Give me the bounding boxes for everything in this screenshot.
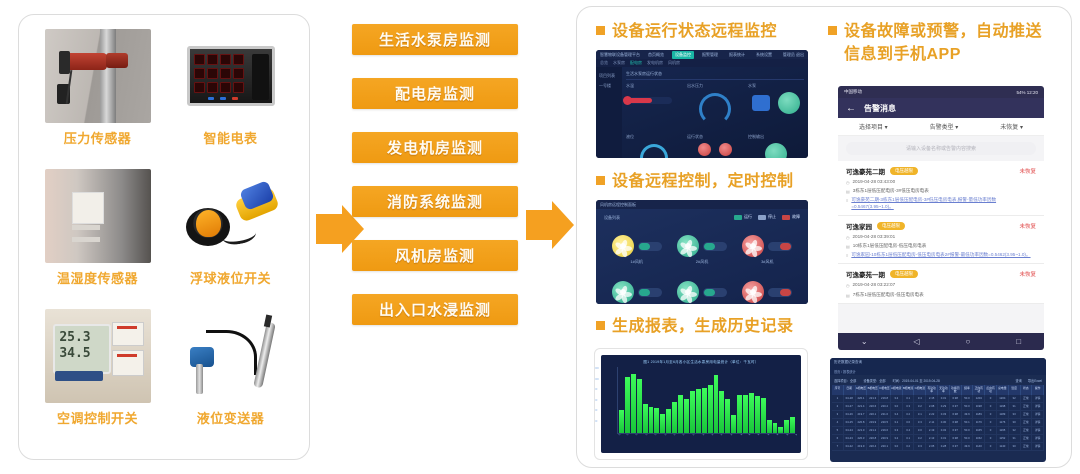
chart-y-tick: 600 <box>594 399 599 402</box>
table-cell: 3.1 <box>914 411 926 418</box>
table-cell: 0.98 <box>950 435 962 442</box>
dashboard-subtab-4[interactable]: 风机房 <box>668 60 680 66</box>
device-label: 液位变送器 <box>197 408 265 427</box>
table-cell: 3.2 <box>914 403 926 410</box>
history-table-screenshot: 历史数据记录查询 首页 / 报表统计 选择项目：全部 设备类型：全部 时间：20… <box>830 358 1046 462</box>
table-cell: 2.22 <box>926 411 938 418</box>
table-filter-bar: 选择项目：全部 设备类型：全部 时间：2019-04-01 至 2019-04-… <box>830 375 1046 385</box>
table-cell: 221.4 <box>856 403 868 410</box>
chart-y-tick: 400 <box>594 409 599 412</box>
dashboard-section-header: 生活水泵房运行状态 <box>626 71 804 80</box>
dashboard-tab-0[interactable]: 首页概览 <box>645 51 667 59</box>
table-cell: 正常 <box>1021 395 1033 402</box>
phone-alarm-screenshot: 中国移动 54% 12:20 ← 告警消息 选择项目 ▾ 告警类型 ▾ 未恢复 … <box>838 86 1044 350</box>
gauge-icon <box>699 93 731 125</box>
info-icon: ≡ <box>846 198 848 203</box>
phone-filter-status[interactable]: 未恢复 ▾ <box>1000 122 1023 131</box>
widget-label: 出水压力 <box>687 83 743 89</box>
alarm-state: 未恢复 <box>1019 222 1036 230</box>
table-cell: 详情 <box>1032 411 1044 418</box>
table-cell: 30 <box>1009 419 1021 426</box>
table-cell: 3.3 <box>914 443 926 450</box>
table-cell: 2.19 <box>926 427 938 434</box>
table-cell: 50.0 <box>962 435 974 442</box>
legend-label: 故障 <box>792 214 800 220</box>
table-cell: 0.98 <box>950 411 962 418</box>
table-cell: 3.4 <box>891 411 903 418</box>
alarm-device: 3栋东1层低压配电房-3#低压电房电表 <box>853 188 929 194</box>
chart-y-tick: 800 <box>594 388 599 391</box>
dashboard-body: 项目列表 一号楼 生活水泵房运行状态 水温 出水压力 水泵 <box>596 67 808 158</box>
dashboard-widget-pump: 水泵 <box>748 83 804 129</box>
ac-control-switch-photo: 25.334.5 <box>45 309 151 403</box>
alarm-detail[interactable]: 可逸豪苑二期-3栋东1层低压配电房-3#低压电房电表,报警-量低功率因数=0.5… <box>851 197 1036 209</box>
table-cell: 0 <box>985 395 997 402</box>
control-topbar: 风机房远程控制面板 <box>596 200 808 209</box>
table-cell: 220.1 <box>856 395 868 402</box>
table-column-header: B相电压 <box>867 385 879 395</box>
alarm-time: 2019-04-28 03:39:01 <box>853 234 896 240</box>
table-cell: 0 <box>985 443 997 450</box>
table-cell: 3.0 <box>891 443 903 450</box>
widget-label: 运行状态 <box>687 134 743 140</box>
fan-icon <box>612 281 634 303</box>
table-cell: 1198 <box>973 403 985 410</box>
device-cell-pressure-sensor: 压力传感器 <box>31 29 164 169</box>
table-cell: 6 <box>832 435 844 442</box>
table-cell: 3.1 <box>903 395 915 402</box>
legend-label: 运行 <box>744 214 752 220</box>
chart-bar <box>719 391 724 433</box>
table-row[interactable]: 104-28220.1221.3219.83.23.13.42.150.310.… <box>832 395 1044 403</box>
phone-filter-type[interactable]: 告警类型 ▾ <box>930 122 959 131</box>
legend-run: 运行 <box>734 214 752 220</box>
chart-bar <box>660 414 665 433</box>
table-cell: 详情 <box>1032 395 1044 402</box>
alarm-card[interactable]: 可逸豪苑二期 电压越限 未恢复 ◷2019-04-28 03:43:00 ▤3栋… <box>838 161 1044 216</box>
fan-icon <box>612 235 634 257</box>
fan-toggle-switch[interactable] <box>768 242 792 251</box>
fan-cell-6: 6#风机 <box>742 281 792 304</box>
output-status-icon <box>765 143 787 158</box>
temp-humidity-sensor-photo <box>45 169 151 263</box>
table-cell: 0 <box>985 427 997 434</box>
table-filter-date[interactable]: 时间：2019-04-01 至 2019-04-28 <box>893 378 940 383</box>
table-cell: 3.2 <box>891 435 903 442</box>
feature-title-text: 设备远程控制，定时控制 <box>612 170 794 193</box>
dashboard-tab-2[interactable]: 报警管理 <box>699 51 721 59</box>
chart-bars <box>619 367 795 433</box>
table-cell: 详情 <box>1032 443 1044 450</box>
dashboard-subtab-2[interactable]: 配电房 <box>630 60 642 66</box>
table-cell: 1189 <box>997 411 1009 418</box>
table-cell: 详情 <box>1032 419 1044 426</box>
table-row[interactable]: 304-26219.7220.1221.03.43.23.12.220.330.… <box>832 411 1044 419</box>
table-cell: 220.8 <box>867 435 879 442</box>
widget-label: 水泵 <box>748 83 804 89</box>
fan-toggle-switch[interactable] <box>768 288 792 297</box>
chart-bar <box>708 385 713 433</box>
alarm-badge: 电压越限 <box>890 167 918 175</box>
alarm-card[interactable]: 可逸豪苑一期 电压越限 未恢复 ◷2019-04-28 03:22:07 ▤7栋… <box>838 264 1044 303</box>
float-level-switch-photo <box>178 169 284 263</box>
table-cell: 04-23 <box>844 435 856 442</box>
chart-bar <box>755 396 760 433</box>
pump-tile-icon <box>752 95 770 111</box>
phone-battery-time: 54% 12:20 <box>1016 90 1038 95</box>
fan-toggle-switch[interactable] <box>638 242 662 251</box>
dashboard-topbar: 智慧物联设备管理平台 首页概览 设备监控 报警管理 报表统计 系统设置 管理员 … <box>596 50 808 59</box>
widget-label: 控制输出 <box>748 134 804 140</box>
table-row[interactable]: 704-22219.9220.4220.13.03.23.32.050.280.… <box>832 443 1044 451</box>
table-cell: 0.31 <box>938 435 950 442</box>
dashboard-widget-output: 控制输出 <box>748 134 804 158</box>
phone-filter-row: 选择项目 ▾ 告警类型 ▾ 未恢复 ▾ <box>838 118 1044 136</box>
dashboard-subtabs: 总览 水泵房 配电房 发电机房 风机房 <box>596 59 808 67</box>
table-filter-project[interactable]: 选择项目：全部 <box>834 378 856 383</box>
table-cell: 221.0 <box>879 411 891 418</box>
table-column-header: 反向有功 <box>985 385 997 395</box>
table-cell: 220.3 <box>856 435 868 442</box>
table-cell: 1152 <box>973 435 985 442</box>
fan-row-1: 1#风机 2#风机 3#风机 <box>604 235 800 265</box>
dashboard-tab-1[interactable]: 设备监控 <box>672 51 694 59</box>
alarm-state: 未恢复 <box>1019 167 1036 175</box>
status-light-icon <box>719 143 732 156</box>
bullet-square-icon <box>596 176 605 185</box>
table-cell: 正常 <box>1021 419 1033 426</box>
chart-bar <box>743 395 748 434</box>
table-row[interactable]: 204-27221.4220.6220.23.03.33.22.080.290.… <box>832 403 1044 411</box>
fan-toggle-switch[interactable] <box>638 288 662 297</box>
table-cell: 3.0 <box>914 427 926 434</box>
feature-title-text: 生成报表，生成历史记录 <box>612 315 794 338</box>
table-topbar: 历史数据记录查询 <box>830 358 1046 367</box>
table-cell: 3.3 <box>903 403 915 410</box>
recents-icon[interactable]: □ <box>1016 337 1021 346</box>
fan-cell-5: 5#风机 <box>677 281 727 304</box>
fan-toggle-switch[interactable] <box>703 242 727 251</box>
device-label: 温湿度传感器 <box>57 268 138 287</box>
dashboard-user[interactable]: 管理员 退出 <box>783 52 804 58</box>
pump-status-icon <box>778 92 800 114</box>
table-cell: 3.1 <box>903 435 915 442</box>
alarm-detail[interactable]: 可逸家园-10栋东1层低压配电房-低压电房电表2#报警-最低功率因数=0.546… <box>851 252 1030 258</box>
phone-search-placeholder: 请输入设备名称或告警内容搜索 <box>906 145 976 152</box>
table-cell: 3.4 <box>914 395 926 402</box>
table-cell: 1165 <box>973 427 985 434</box>
table-cell: 219.6 <box>879 427 891 434</box>
table-column-header: B相电流 <box>903 385 915 395</box>
control-legend: 运行 停止 故障 <box>734 214 800 220</box>
alarm-time: 2019-04-28 03:43:00 <box>853 179 896 185</box>
clock-icon: ◷ <box>846 180 850 185</box>
feature-title-text: 设备故障或预警，自动推送信息到手机APP <box>844 20 1056 66</box>
chart-bar <box>631 374 636 433</box>
phone-nav-bar: ⌄ ◁ ○ □ <box>838 333 1044 350</box>
back-arrow-icon[interactable]: ← <box>846 103 856 114</box>
table-cell: 32 <box>1009 395 1021 402</box>
fan-row-2: 4#风机 5#风机 6#风机 <box>604 281 800 304</box>
table-cell: 0.97 <box>950 427 962 434</box>
table-cell: 0.30 <box>938 419 950 426</box>
table-cell: 0 <box>985 435 997 442</box>
table-cell: 1204 <box>973 395 985 402</box>
dashboard-subtab-0[interactable]: 总览 <box>600 60 608 66</box>
status-light-icon <box>698 143 711 156</box>
dashboard-side-item-0[interactable]: 项目列表 <box>596 71 622 81</box>
table-cell: 2.15 <box>926 395 938 402</box>
chart-plot-area <box>617 367 795 434</box>
table-cell: 0.98 <box>950 419 962 426</box>
table-cell: 1152 <box>997 435 1009 442</box>
chart-bar <box>737 395 742 433</box>
chart-bar <box>790 417 795 434</box>
scenario-item-entrance-flood[interactable]: 出入口水浸监测 <box>352 294 518 325</box>
dashboard-tab-3[interactable]: 报表统计 <box>726 51 748 59</box>
table-column-header: 总电量 <box>997 385 1009 395</box>
table-cell: 221.0 <box>856 427 868 434</box>
table-cell: 219.9 <box>867 419 879 426</box>
dashboard-brand: 智慧物联设备管理平台 <box>600 52 640 58</box>
scenario-item-water-pump-room[interactable]: 生活水泵房监测 <box>352 24 518 55</box>
table-row[interactable]: 404-25220.8219.9220.53.13.03.32.110.300.… <box>832 419 1044 427</box>
widget-label: 水温 <box>626 83 682 89</box>
scenario-item-power-distribution-room[interactable]: 配电房监测 <box>352 78 518 109</box>
table-cell: 04-22 <box>844 443 856 450</box>
table-cell: 221.2 <box>867 427 879 434</box>
table-cell: 50.1 <box>962 419 974 426</box>
table-cell: 1189 <box>973 411 985 418</box>
table-cell: 正常 <box>1021 403 1033 410</box>
feature-title-remote-control: 设备远程控制，定时控制 <box>596 170 836 193</box>
bullet-square-icon <box>596 26 605 35</box>
table-export-button[interactable]: 导出Excel <box>1028 378 1042 383</box>
device-cell-float-level-switch: 浮球液位开关 <box>164 169 297 309</box>
table-cell: 220.1 <box>867 411 879 418</box>
chart-bar <box>767 420 772 433</box>
table-cell: 详情 <box>1032 427 1044 434</box>
phone-filter-project[interactable]: 选择项目 ▾ <box>859 122 888 131</box>
table-cell: 正常 <box>1021 435 1033 442</box>
dashboard-widget-row-1: 水温 出水压力 水泵 <box>626 83 804 129</box>
alarm-project: 可逸豪苑二期 <box>846 166 885 176</box>
chart-bar <box>725 399 730 433</box>
chart-title: 图1 2019年1月至6月各小区生活水泵房用电量统计（单位：千瓦时） <box>605 360 797 365</box>
device-cell-smart-meter: 智能电表 <box>164 29 297 169</box>
table-column-header: 频率 <box>962 385 974 395</box>
device-icon: ▤ <box>846 244 850 249</box>
table-cell: 正常 <box>1021 427 1033 434</box>
table-cell: 4 <box>832 419 844 426</box>
table-grid: 序号日期A相电压B相电压C相电压A相电流B相电流C相电流有功功率无功功率功率因数… <box>830 385 1046 451</box>
table-cell: 2.13 <box>926 435 938 442</box>
chart-bar <box>619 410 624 433</box>
table-cell: 0.28 <box>938 443 950 450</box>
fan-label: 1#风机 <box>630 259 642 265</box>
chart-bar <box>761 398 766 433</box>
breadcrumb: 首页 / 报表统计 <box>834 369 856 374</box>
table-cell: 1176 <box>997 419 1009 426</box>
table-cell: 3.4 <box>903 427 915 434</box>
fan-icon <box>677 281 699 303</box>
fan-cell-1: 1#风机 <box>612 235 662 265</box>
bullet-square-icon <box>828 26 837 35</box>
phone-search-input[interactable]: 请输入设备名称或告警内容搜索 <box>846 142 1036 155</box>
chart-y-tick: 0 <box>594 430 599 433</box>
table-cell: 0.29 <box>938 403 950 410</box>
chart-y-axis: 120010008006004002000 <box>594 367 599 433</box>
info-icon: ≡ <box>846 253 848 258</box>
table-cell: 32 <box>1009 427 1021 434</box>
table-cell: 49.9 <box>962 443 974 450</box>
table-column-header: A相电压 <box>856 385 868 395</box>
chart-bar <box>749 393 754 433</box>
phone-page-title: 告警消息 <box>864 103 896 114</box>
table-row[interactable]: 604-23220.3220.8220.93.23.13.22.130.310.… <box>832 435 1044 443</box>
device-cell-ac-control-switch: 25.334.5 空调控制开关 <box>31 309 164 449</box>
table-cell: 0 <box>985 419 997 426</box>
dashboard-widget-runstate: 运行状态 <box>687 134 743 158</box>
table-breadcrumb-bar: 首页 / 报表统计 <box>830 367 1046 375</box>
chart-bar <box>678 395 683 434</box>
arrow-right-icon-1 <box>316 214 342 244</box>
table-cell: 220.6 <box>867 403 879 410</box>
chart-bar <box>773 423 778 433</box>
control-dashboard-screenshot: 风机房远程控制面板 设备列表 运行 停止 故障 1#风机 <box>596 200 808 304</box>
table-query-button[interactable]: 查询 <box>1015 378 1021 383</box>
table-cell: 3.2 <box>891 395 903 402</box>
fan-icon <box>677 235 699 257</box>
alarm-project: 可逸豪苑一期 <box>846 269 885 279</box>
table-cell: 2.08 <box>926 403 938 410</box>
dashboard-tab-4[interactable]: 系统设置 <box>753 51 775 59</box>
alarm-device: 10栋东1层低压配电房-低压电房电表 <box>853 243 927 249</box>
table-cell: 04-26 <box>844 411 856 418</box>
table-column-header: 温度 <box>1009 385 1021 395</box>
device-label: 浮球液位开关 <box>190 268 271 287</box>
back-icon[interactable]: ◁ <box>913 337 919 346</box>
table-cell: 220.8 <box>856 419 868 426</box>
feature-title-alarm-push: 设备故障或预警，自动推送信息到手机APP <box>828 20 1056 66</box>
device-label: 智能电表 <box>203 128 257 147</box>
fan-cell-4: 4#风机 <box>612 281 662 304</box>
table-cell: 04-28 <box>844 395 856 402</box>
chart-bar <box>654 408 659 433</box>
clock-icon: ◷ <box>846 283 850 288</box>
table-cell: 220.4 <box>867 443 879 450</box>
table-cell: 0.97 <box>950 443 962 450</box>
smart-meter-photo <box>178 29 284 123</box>
table-cell: 220.1 <box>879 443 891 450</box>
chart-bar <box>714 375 719 433</box>
device-label: 空调控制开关 <box>57 408 138 427</box>
table-cell: 详情 <box>1032 403 1044 410</box>
chart-bar <box>784 420 789 433</box>
alarm-time: 2019-04-28 03:22:07 <box>853 282 896 288</box>
dashboard-widget-temperature: 水温 <box>626 83 682 129</box>
dashboard-side-item-1[interactable]: 一号楼 <box>596 81 622 91</box>
menu-icon[interactable]: ⌄ <box>861 337 868 346</box>
phone-app-bar: ← 告警消息 <box>838 98 1044 118</box>
table-cell: 2.05 <box>926 443 938 450</box>
table-filter-type[interactable]: 设备类型：全部 <box>863 378 885 383</box>
feature-title-reports: 生成报表，生成历史记录 <box>596 315 836 338</box>
chart-y-tick: 1000 <box>594 378 599 381</box>
device-label: 压力传感器 <box>64 128 132 147</box>
table-cell: 3.3 <box>891 427 903 434</box>
dashboard-subtab-1[interactable]: 水泵房 <box>613 60 625 66</box>
table-body: 104-28220.1221.3219.83.23.13.42.150.310.… <box>832 395 1044 451</box>
chart-bar <box>778 427 783 433</box>
alarm-card[interactable]: 可逸家园 电压越限 未恢复 ◷2019-04-28 03:39:01 ▤10栋东… <box>838 216 1044 265</box>
table-cell: 3 <box>832 411 844 418</box>
table-cell: 1198 <box>997 403 1009 410</box>
table-cell: 3.3 <box>914 419 926 426</box>
chart-bar <box>731 415 736 433</box>
chart-bar <box>702 388 707 433</box>
table-column-header: C相电流 <box>914 385 926 395</box>
legend-label: 停止 <box>768 214 776 220</box>
scenario-item-fire-system[interactable]: 消防系统监测 <box>352 186 518 217</box>
alarm-project: 可逸家园 <box>846 221 872 231</box>
table-cell: 1140 <box>973 443 985 450</box>
scenario-item-generator-room[interactable]: 发电机房监测 <box>352 132 518 163</box>
arrow-right-icon-2 <box>526 210 552 240</box>
monitoring-dashboard-screenshot: 智慧物联设备管理平台 首页概览 设备监控 报警管理 报表统计 系统设置 管理员 … <box>596 50 808 158</box>
phone-carrier: 中国移动 <box>844 89 862 95</box>
clock-icon: ◷ <box>846 235 850 240</box>
fan-toggle-switch[interactable] <box>703 288 727 297</box>
table-cell: 详情 <box>1032 435 1044 442</box>
home-icon[interactable]: ○ <box>966 337 971 346</box>
table-cell: 30 <box>1009 443 1021 450</box>
report-chart-screenshot: 图1 2019年1月至6月各小区生活水泵房用电量统计（单位：千瓦时） 12001… <box>594 348 808 460</box>
table-cell: 3.0 <box>903 419 915 426</box>
device-cell-level-transmitter: 液位变送器 <box>164 309 297 449</box>
table-cell: 1204 <box>997 395 1009 402</box>
chart-bar <box>690 391 695 433</box>
table-cell: 3.2 <box>903 411 915 418</box>
chart-bar <box>684 399 689 433</box>
chart-bar <box>672 402 677 433</box>
table-cell: 正常 <box>1021 443 1033 450</box>
device-icon: ▤ <box>846 293 850 298</box>
table-cell: 04-25 <box>844 419 856 426</box>
control-header: 风机房远程控制面板 <box>600 202 636 208</box>
table-cell: 0 <box>985 411 997 418</box>
alarm-device: 7栋东1层低压配电房-低压电房电表 <box>853 292 924 298</box>
dashboard-subtab-3[interactable]: 发电机房 <box>647 60 663 66</box>
table-cell: 220.2 <box>879 403 891 410</box>
chart-x-axis: 1月1日1月8日1月15日1月22日1月29日2月5日2月12日2月19日2月2… <box>617 434 797 446</box>
table-row[interactable]: 504-24221.0221.2219.63.33.43.02.190.320.… <box>832 427 1044 435</box>
device-icon: ▤ <box>846 189 850 194</box>
legend-fault: 故障 <box>782 214 800 220</box>
table-cell: 7 <box>832 443 844 450</box>
chart-bar <box>643 404 648 433</box>
bar-chart: 图1 2019年1月至6月各小区生活水泵房用电量统计（单位：千瓦时） 12001… <box>601 355 801 453</box>
feature-title-text: 设备运行状态远程监控 <box>612 20 777 43</box>
scenario-item-fan-room[interactable]: 风机房监测 <box>352 240 518 271</box>
table-column-header: 有功功率 <box>926 385 938 395</box>
fan-icon <box>742 235 764 257</box>
chart-bar <box>696 389 701 433</box>
fan-label: 2#风机 <box>696 259 708 265</box>
table-cell: 221.3 <box>867 395 879 402</box>
bullet-square-icon <box>596 321 605 330</box>
phone-status-bar: 中国移动 54% 12:20 <box>838 86 1044 98</box>
